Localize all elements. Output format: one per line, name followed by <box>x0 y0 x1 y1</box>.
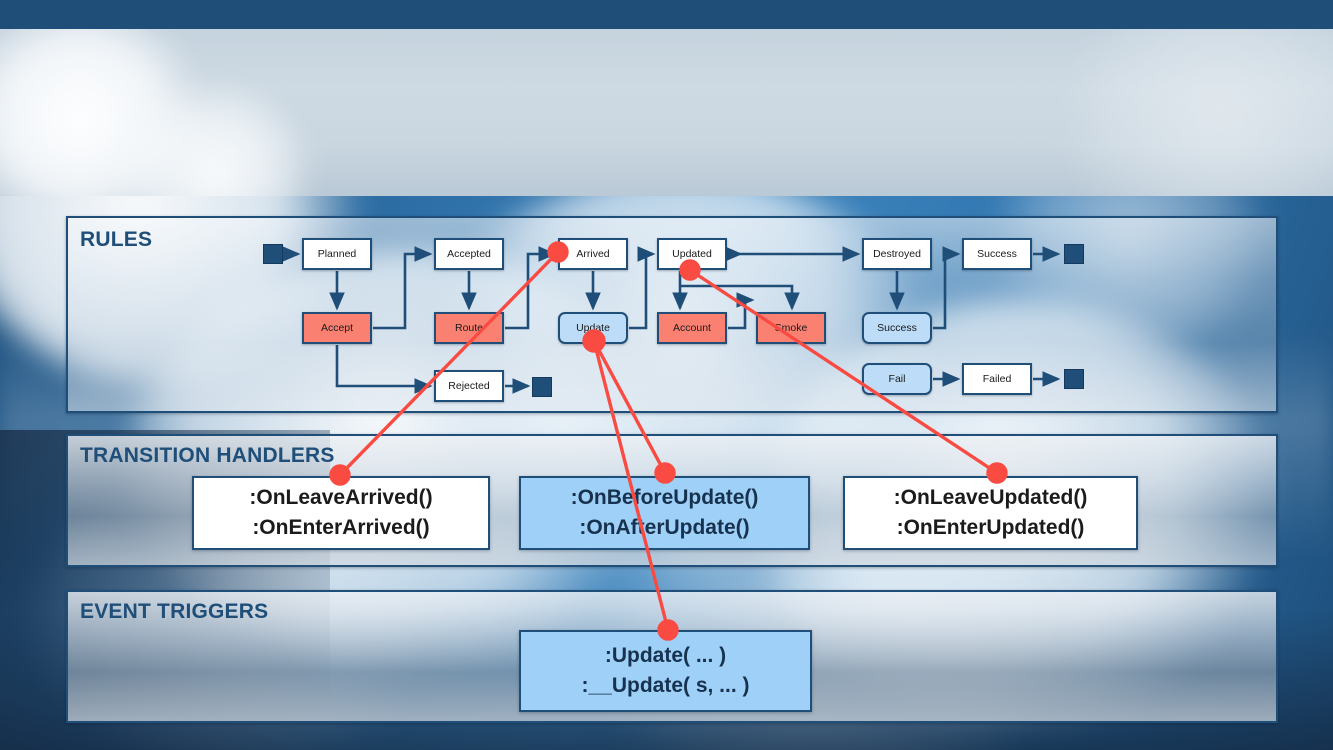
rule-node-fail[interactable]: Fail <box>862 363 932 395</box>
handler-line-onenterarrived: :OnEnterArrived() <box>252 513 429 543</box>
rule-node-success[interactable]: Success <box>862 312 932 344</box>
state-node-failed[interactable]: Failed <box>962 363 1032 395</box>
start-terminator <box>263 244 283 264</box>
rule-node-route[interactable]: Route <box>434 312 504 344</box>
handler-line-onbeforeupdate: :OnBeforeUpdate() <box>571 483 759 513</box>
handler-line-onleaveupdated: :OnLeaveUpdated() <box>894 483 1088 513</box>
rule-node-smoke[interactable]: Smoke <box>756 312 826 344</box>
trigger-line-under-update: :__Update( s, ... ) <box>581 671 749 701</box>
handler-box-arrived[interactable]: :OnLeaveArrived() :OnEnterArrived() <box>192 476 490 550</box>
top-accent-bar <box>0 0 1333 29</box>
rule-node-account[interactable]: Account <box>657 312 727 344</box>
panel-label-rules: RULES <box>80 228 152 252</box>
failed-terminator <box>1064 369 1084 389</box>
state-node-accepted[interactable]: Accepted <box>434 238 504 270</box>
rule-node-accept[interactable]: Accept <box>302 312 372 344</box>
trigger-box-update[interactable]: :Update( ... ) :__Update( s, ... ) <box>519 630 812 712</box>
state-node-planned[interactable]: Planned <box>302 238 372 270</box>
handler-line-onleavearrived: :OnLeaveArrived() <box>249 483 432 513</box>
success-terminator <box>1064 244 1084 264</box>
state-node-rejected[interactable]: Rejected <box>434 370 504 402</box>
state-node-updated[interactable]: Updated <box>657 238 727 270</box>
trigger-line-update: :Update( ... ) <box>605 641 726 671</box>
state-node-success[interactable]: Success <box>962 238 1032 270</box>
state-node-arrived[interactable]: Arrived <box>558 238 628 270</box>
handler-box-updated[interactable]: :OnLeaveUpdated() :OnEnterUpdated() <box>843 476 1138 550</box>
rule-node-update[interactable]: Update <box>558 312 628 344</box>
panel-label-transition-handlers: TRANSITION HANDLERS <box>80 444 335 468</box>
panel-label-event-triggers: EVENT TRIGGERS <box>80 600 268 624</box>
handler-line-onafterupdate: :OnAfterUpdate() <box>579 513 749 543</box>
cloud-shape <box>1050 29 1333 196</box>
title-band <box>0 29 1333 196</box>
handler-box-update[interactable]: :OnBeforeUpdate() :OnAfterUpdate() <box>519 476 810 550</box>
handler-line-onenterupdated: :OnEnterUpdated() <box>897 513 1085 543</box>
slide-canvas: FSM RULES, HANDLERS, TRIGGERS RULES TRAN… <box>0 0 1333 750</box>
state-node-destroyed[interactable]: Destroyed <box>862 238 932 270</box>
rejected-terminator <box>532 377 552 397</box>
